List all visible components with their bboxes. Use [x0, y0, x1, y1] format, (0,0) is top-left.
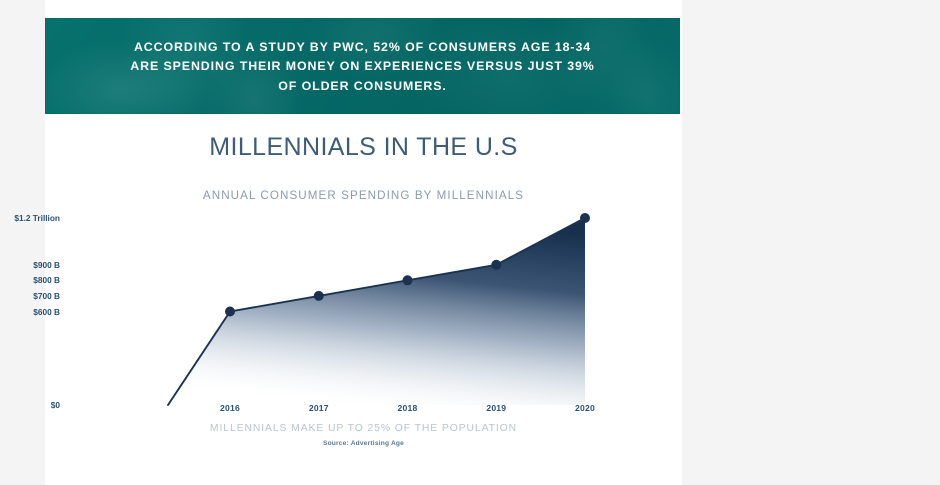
- chart-plot-area: [120, 205, 620, 420]
- y-axis-tick-label: $900 B: [33, 260, 60, 270]
- x-axis-tick-label-2016: 2016: [220, 403, 240, 413]
- y-axis-tick-label: $1.2 Trillion: [14, 213, 60, 223]
- banner-line-2: ARE SPENDING THEIR MONEY ON EXPERIENCES …: [130, 60, 594, 74]
- x-axis-tick-label-2017: 2017: [309, 403, 329, 413]
- x-axis-tick-label-2020: 2020: [575, 403, 595, 413]
- chart-data-point-2018: [403, 275, 413, 285]
- x-axis-tick-label-2019: 2019: [486, 403, 506, 413]
- chart-data-point-2020: [580, 213, 590, 223]
- infographic-page: ACCORDING TO A STUDY BY PWC, 52% OF CONS…: [0, 0, 940, 485]
- chart-data-point-2017: [314, 291, 324, 301]
- line-area-chart: [120, 205, 620, 420]
- y-axis-label-group: $1.2 Trillion$900 B$800 B$700 B$600 B$0: [0, 205, 60, 420]
- x-axis-label-group: 20162017201820192020: [120, 403, 620, 419]
- chart-subtitle: ANNUAL CONSUMER SPENDING BY MILLENNIALS: [45, 189, 682, 202]
- chart-data-point-2019: [491, 260, 501, 270]
- banner-line-3: OF OLDER CONSUMERS.: [278, 80, 447, 94]
- chart-source: Source: Advertising Age: [45, 440, 682, 447]
- banner-text-block: ACCORDING TO A STUDY BY PWC, 52% OF CONS…: [45, 18, 680, 114]
- y-axis-tick-label: $700 B: [33, 291, 60, 301]
- chart-annotation: MILLENNIALS MAKE UP TO 25% OF THE POPULA…: [45, 423, 682, 434]
- page-title: MILLENNIALS IN THE U.S: [45, 133, 682, 162]
- y-axis-tick-label: $800 B: [33, 275, 60, 285]
- x-axis-tick-label-2018: 2018: [398, 403, 418, 413]
- header-banner: ACCORDING TO A STUDY BY PWC, 52% OF CONS…: [45, 18, 680, 114]
- y-axis-tick-label: $0: [51, 400, 60, 410]
- banner-line-1: ACCORDING TO A STUDY BY PWC, 52% OF CONS…: [134, 41, 591, 55]
- y-axis-tick-label: $600 B: [33, 307, 60, 317]
- chart-data-point-2016: [225, 307, 235, 317]
